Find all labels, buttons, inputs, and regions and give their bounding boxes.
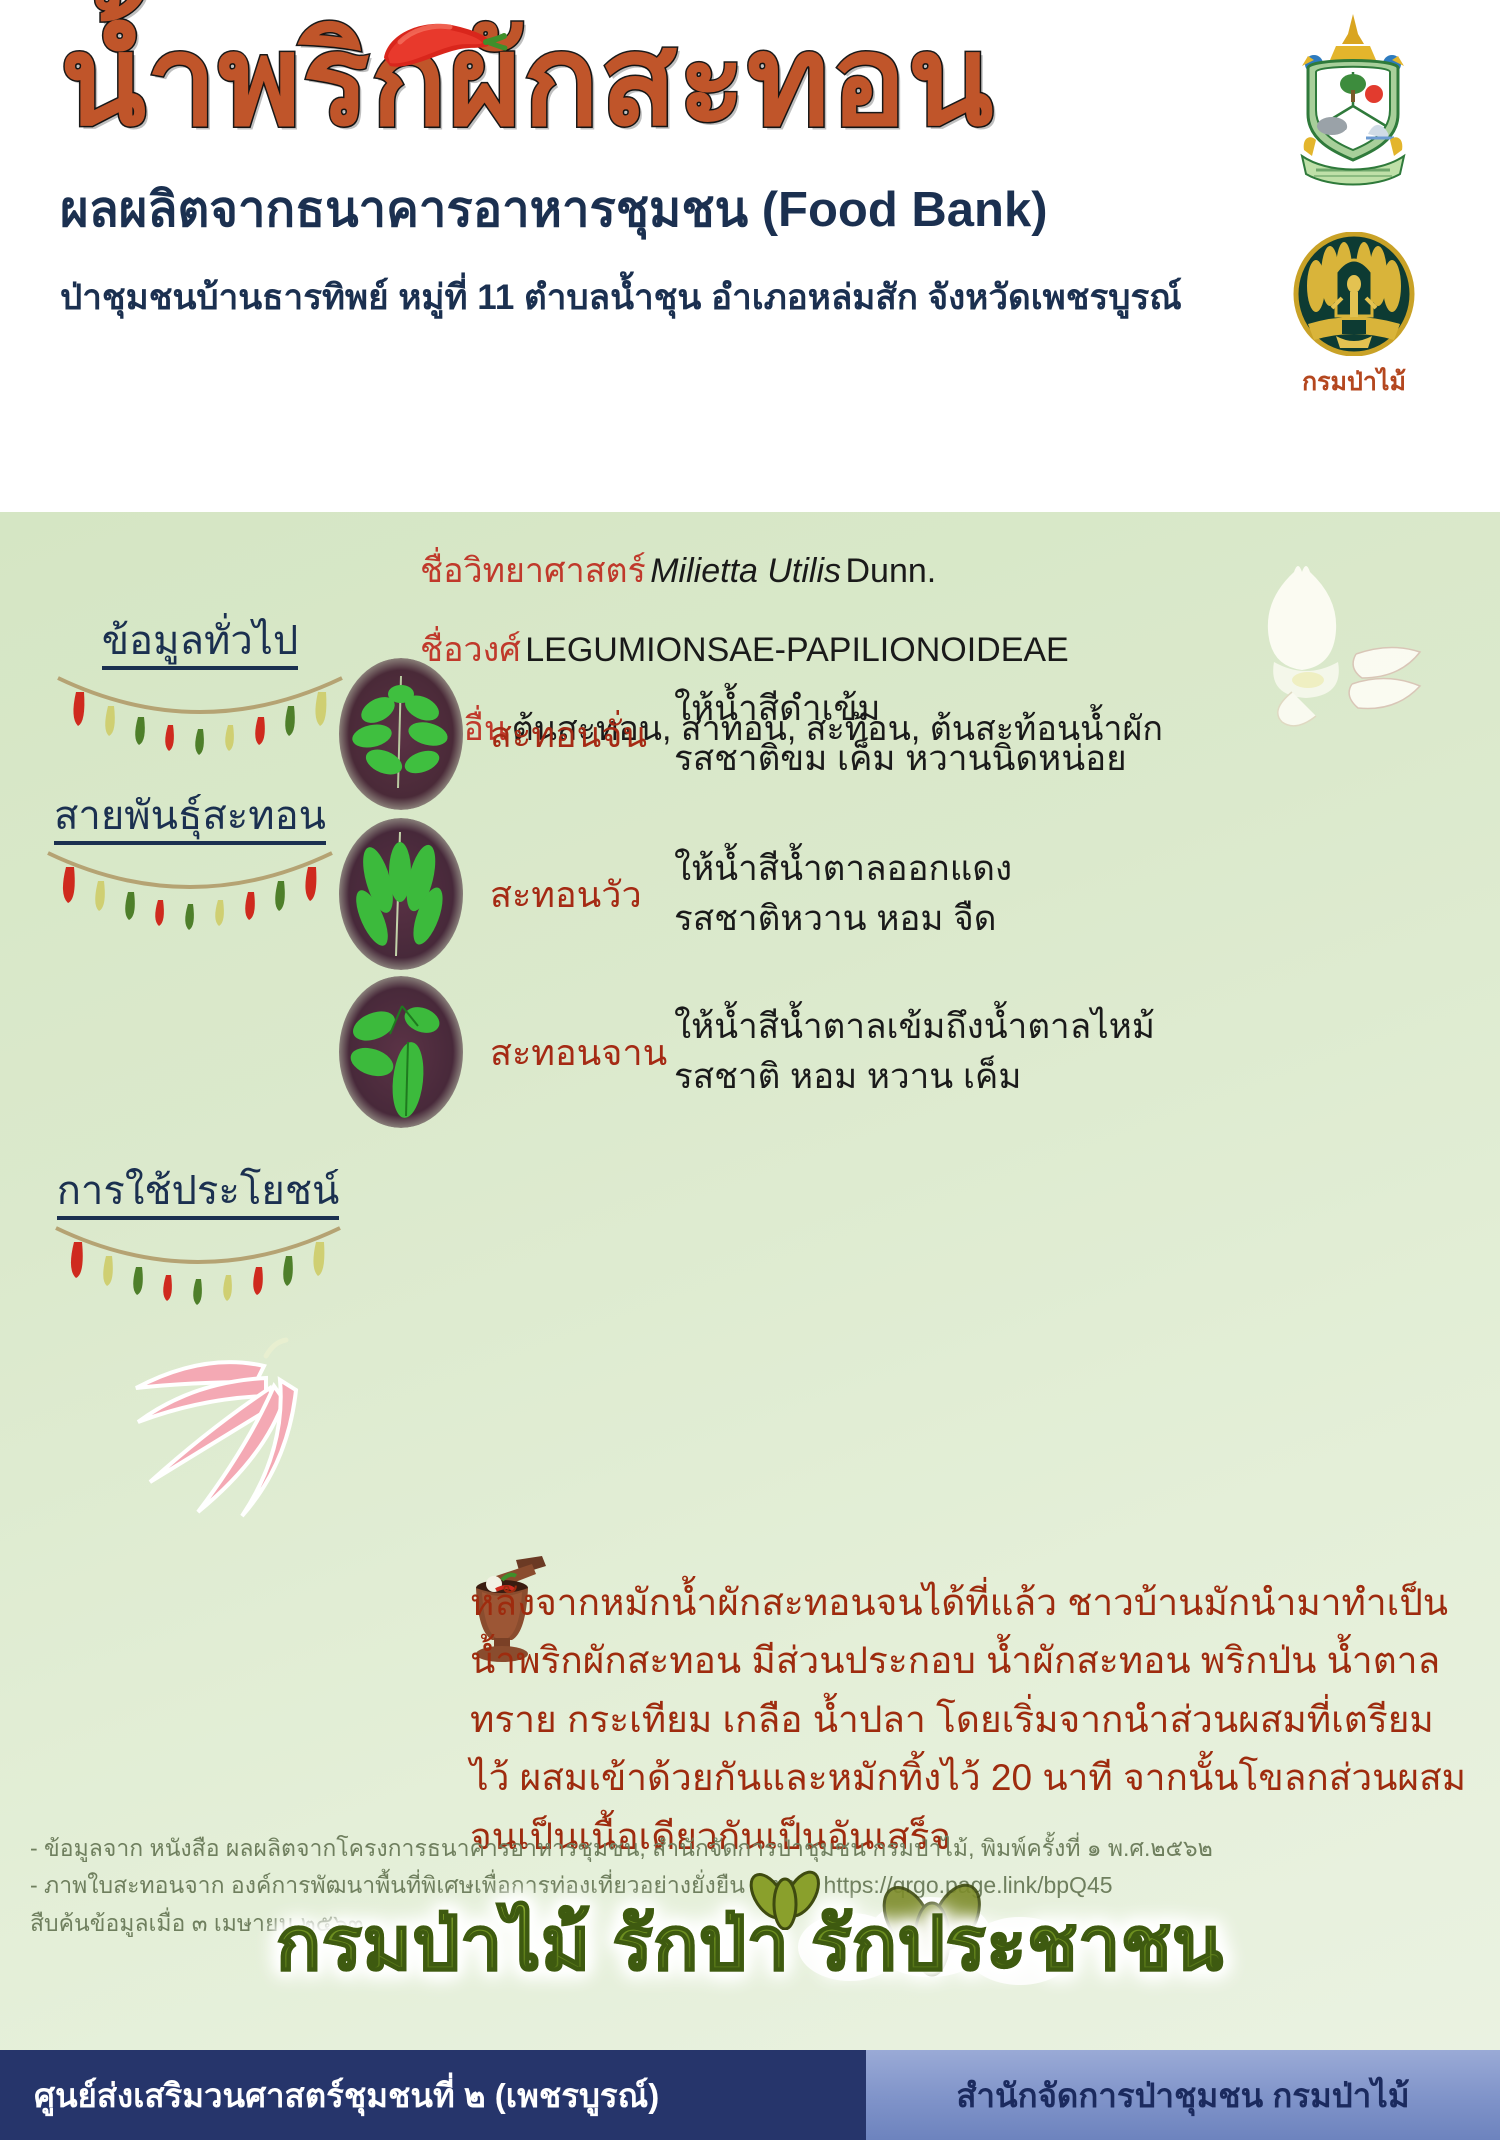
pink-chili-peppers-icon — [74, 1330, 374, 1570]
variety-name: สะทอนวัว — [490, 866, 668, 923]
province-seal-icon — [1268, 10, 1438, 190]
section-label-varieties-text: สายพันธุ์สะทอน — [54, 795, 326, 845]
poster-footer: ศูนย์ส่งเสริมวนศาสตร์ชุมชนที่ ๒ (เพชรบูร… — [0, 2050, 1500, 2140]
address-line: ป่าชุมชนบ้านธารทิพย์ หมู่ที่ 11 ตำบลน้ำช… — [60, 270, 1240, 325]
section-label-general: ข้อมูลทั่วไป — [50, 620, 350, 758]
variety-row: สะทอนวัว ให้น้ำสีน้ำตาลออกแดง รสชาติหวาน… — [338, 818, 1012, 970]
page-title: น้ำพริกผักสะทอน — [60, 18, 1240, 144]
variety-row: สะทอนจาน ให้น้ำสีน้ำตาลเข้มถึงน้ำตาลไหม้… — [338, 976, 1155, 1128]
footer-right-text: สำนักจัดการป่าชุมชน กรมป่าไม้ — [956, 2069, 1409, 2122]
info-key: ชื่อวิทยาศาสตร์ — [420, 552, 646, 590]
section-label-usage: การใช้ประโยชน์ — [48, 1170, 348, 1308]
variety-description: ให้น้ำสีน้ำตาลออกแดง รสชาติหวาน หอม จืด — [674, 844, 1012, 943]
royal-forest-department-seal-icon — [1292, 232, 1416, 356]
section-label-varieties: สายพันธุ์สะทอน — [40, 795, 340, 933]
variety-desc-line1: ให้น้ำสีน้ำตาลออกแดง — [674, 844, 1012, 894]
title-block: น้ำพริกผักสะทอน ผลผลิตจากธนาคารอาหารชุมช… — [60, 0, 1240, 325]
info-value: Milietta Utilis — [650, 552, 841, 590]
variety-name: สะทอนจาน — [490, 1024, 668, 1081]
poster-header: น้ำพริกผักสะทอน ผลผลิตจากธนาคารอาหารชุมช… — [0, 0, 1500, 512]
garlic-icon — [1230, 552, 1490, 742]
variety-name: สะทอนจั่น — [490, 706, 668, 763]
variety-desc-line1: ให้น้ำสีดำเข้ม — [674, 684, 1127, 734]
chili-garland-icon — [50, 672, 350, 758]
variety-desc-line1: ให้น้ำสีน้ำตาลเข้มถึงน้ำตาลไหม้ — [674, 1002, 1155, 1052]
subtitle: ผลผลิตจากธนาคารอาหารชุมชน (Food Bank) — [60, 170, 1240, 248]
section-label-general-text: ข้อมูลทั่วไป — [102, 620, 299, 670]
usage-paragraph: หลังจากหมักน้ำผักสะทอนจนได้ที่แล้ว ชาวบ้… — [470, 1574, 1470, 1866]
variety-description: ให้น้ำสีดำเข้ม รสชาติขม เค็ม หวานนิดหน่อ… — [674, 684, 1127, 783]
chili-garland-icon — [40, 847, 340, 933]
chili-garland-icon — [48, 1222, 348, 1308]
variety-leaf-photo — [338, 976, 464, 1128]
rfd-label: กรมป่าไม้ — [1286, 362, 1422, 402]
variety-desc-line2: รสชาติขม เค็ม หวานนิดหน่อย — [674, 734, 1127, 784]
variety-desc-line2: รสชาติ หอม หวาน เค็ม — [674, 1052, 1155, 1102]
variety-desc-line2: รสชาติหวาน หอม จืด — [674, 894, 1012, 944]
section-label-usage-text: การใช้ประโยชน์ — [57, 1170, 340, 1220]
variety-row: สะทอนจั่น ให้น้ำสีดำเข้ม รสชาติขม เค็ม ห… — [338, 658, 1127, 810]
content-panel: ข้อมูลทั่วไป ชื่อวิทยาศาสตร์ Milietta Ut… — [0, 512, 1500, 2050]
footer-left-text: ศูนย์ส่งเสริมวนศาสตร์ชุมชนที่ ๒ (เพชรบูร… — [34, 2069, 659, 2122]
leaf-cluster-icon — [790, 1827, 1090, 1987]
info-value-suffix: Dunn. — [846, 552, 937, 590]
variety-leaf-photo — [338, 658, 464, 810]
info-row-scientific-name: ชื่อวิทยาศาสตร์ Milietta Utilis Dunn. — [420, 543, 936, 597]
footer-right-bar: สำนักจัดการป่าชุมชน กรมป่าไม้ — [866, 2050, 1500, 2140]
footer-left-bar: ศูนย์ส่งเสริมวนศาสตร์ชุมชนที่ ๒ (เพชรบูร… — [0, 2050, 900, 2140]
variety-leaf-photo — [338, 818, 464, 970]
variety-description: ให้น้ำสีน้ำตาลเข้มถึงน้ำตาลไหม้ รสชาติ ห… — [674, 1002, 1155, 1101]
